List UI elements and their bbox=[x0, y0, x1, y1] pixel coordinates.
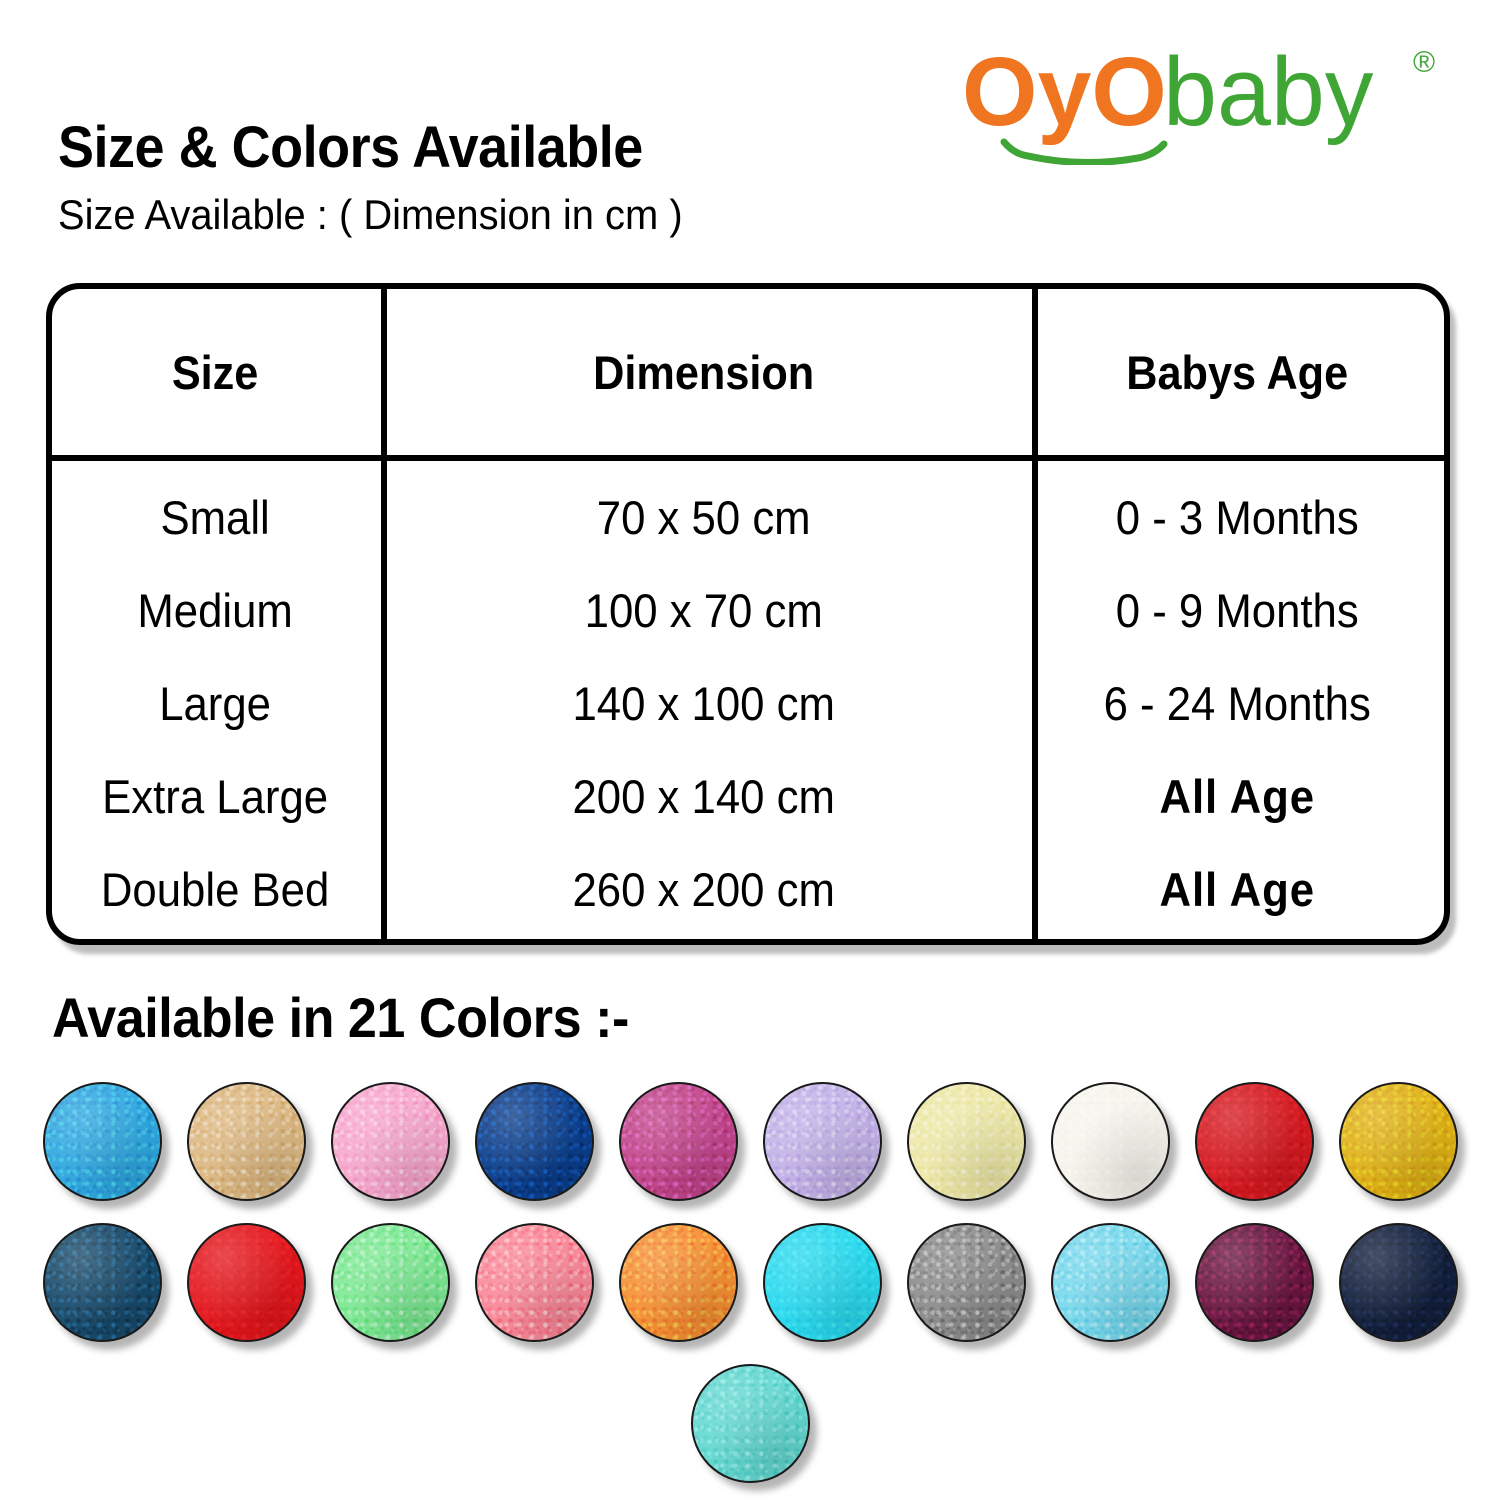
cell-size: Small bbox=[63, 471, 366, 564]
color-swatch-cyan[interactable] bbox=[763, 1223, 882, 1342]
size-table-container: Size Dimension Babys Age Small 70 x 50 c… bbox=[46, 283, 1454, 951]
registered-trademark-icon: ® bbox=[1413, 46, 1435, 79]
cell-size: Medium bbox=[63, 564, 366, 657]
oyobaby-logo: OyO baby ® bbox=[958, 30, 1458, 165]
color-swatch-orange[interactable] bbox=[619, 1223, 738, 1342]
cell-babys-age: 6 - 24 Months bbox=[1044, 657, 1429, 750]
color-swatch-baby-pink[interactable] bbox=[331, 1082, 450, 1201]
color-swatch-red[interactable] bbox=[1195, 1082, 1314, 1201]
color-swatch-salmon-pink[interactable] bbox=[475, 1223, 594, 1342]
color-swatch-grey[interactable] bbox=[907, 1223, 1026, 1342]
table-row: Medium 100 x 70 cm 0 - 9 Months bbox=[52, 564, 1444, 657]
color-swatch-pale-yellow[interactable] bbox=[907, 1082, 1026, 1201]
color-swatch-turquoise[interactable] bbox=[691, 1364, 810, 1483]
cell-size: Large bbox=[63, 657, 366, 750]
logo-text-baby: baby bbox=[1163, 37, 1374, 146]
color-swatch-golden-yellow[interactable] bbox=[1339, 1082, 1458, 1201]
cell-babys-age: All Age bbox=[1044, 843, 1429, 936]
color-swatch-maroon[interactable] bbox=[1195, 1223, 1314, 1342]
color-swatch-area bbox=[0, 1082, 1500, 1500]
column-header-babys-age: Babys Age bbox=[1046, 289, 1427, 455]
cell-size: Double Bed bbox=[63, 843, 366, 936]
color-swatch-dark-teal[interactable] bbox=[43, 1223, 162, 1342]
cell-dimension: 200 x 140 cm bbox=[401, 750, 1007, 843]
color-swatch-lavender[interactable] bbox=[763, 1082, 882, 1201]
page-title: Size & Colors Available bbox=[58, 118, 669, 178]
color-swatch-tan-beige[interactable] bbox=[187, 1082, 306, 1201]
color-swatch-royal-blue[interactable] bbox=[475, 1082, 594, 1201]
table-header-row: Size Dimension Babys Age bbox=[52, 289, 1444, 455]
colors-heading: Available in 21 Colors :- bbox=[52, 985, 629, 1050]
cell-dimension: 70 x 50 cm bbox=[401, 471, 1007, 564]
column-header-dimension: Dimension bbox=[404, 289, 1003, 455]
page-header: OyO baby ® Size & Colors Available Size … bbox=[0, 0, 1500, 260]
color-swatch-magenta[interactable] bbox=[619, 1082, 738, 1201]
color-swatch-mint-green[interactable] bbox=[331, 1223, 450, 1342]
color-swatch-row bbox=[0, 1082, 1500, 1201]
cell-dimension: 100 x 70 cm bbox=[401, 564, 1007, 657]
table-row: Small 70 x 50 cm 0 - 3 Months bbox=[52, 471, 1444, 564]
logo-text-oyo: OyO bbox=[962, 37, 1167, 146]
cell-babys-age: 0 - 3 Months bbox=[1044, 471, 1429, 564]
page-subtitle: Size Available : ( Dimension in cm ) bbox=[58, 190, 683, 240]
column-header-size: Size bbox=[65, 289, 365, 455]
color-swatch-row bbox=[0, 1223, 1500, 1342]
color-swatch-light-blue[interactable] bbox=[1051, 1223, 1170, 1342]
cell-size: Extra Large bbox=[63, 750, 366, 843]
cell-dimension: 260 x 200 cm bbox=[401, 843, 1007, 936]
cell-babys-age: 0 - 9 Months bbox=[1044, 564, 1429, 657]
color-swatch-row bbox=[0, 1364, 1500, 1483]
cell-babys-age: All Age bbox=[1044, 750, 1429, 843]
color-swatch-sky-blue[interactable] bbox=[43, 1082, 162, 1201]
color-swatch-navy[interactable] bbox=[1339, 1223, 1458, 1342]
size-table: Size Dimension Babys Age Small 70 x 50 c… bbox=[46, 283, 1450, 945]
table-row: Double Bed 260 x 200 cm All Age bbox=[52, 843, 1444, 936]
table-body: Small 70 x 50 cm 0 - 3 Months Medium 100… bbox=[52, 461, 1444, 945]
table-row: Large 140 x 100 cm 6 - 24 Months bbox=[52, 657, 1444, 750]
cell-dimension: 140 x 100 cm bbox=[401, 657, 1007, 750]
title-block: Size & Colors Available Size Available :… bbox=[58, 118, 715, 241]
color-swatch-bright-red[interactable] bbox=[187, 1223, 306, 1342]
table-row: Extra Large 200 x 140 cm All Age bbox=[52, 750, 1444, 843]
color-swatch-cream-white[interactable] bbox=[1051, 1082, 1170, 1201]
